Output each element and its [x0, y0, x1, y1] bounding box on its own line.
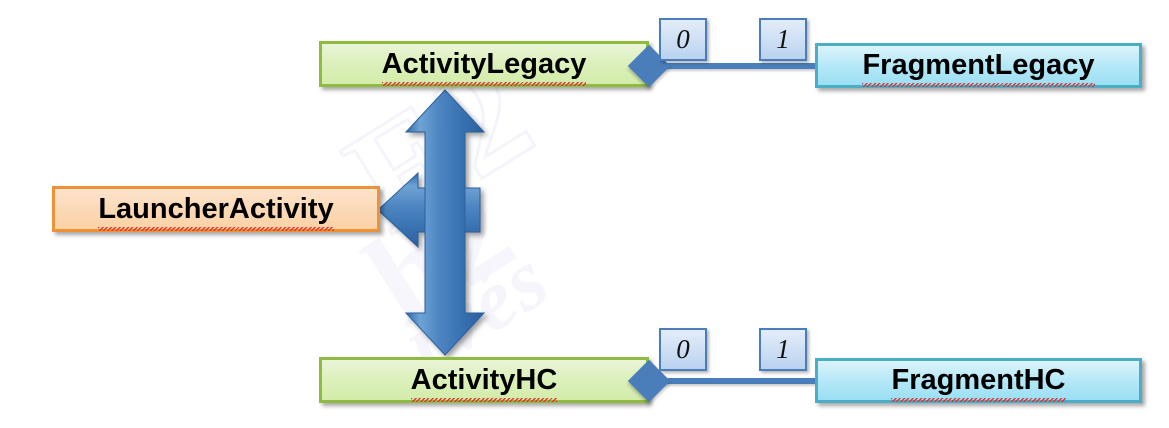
- multiplicity-legacy-target[interactable]: 1: [759, 18, 807, 61]
- class-node-label-launcher-activity: LauncherActivity: [98, 195, 333, 224]
- multiplicity-hc-target[interactable]: 1: [759, 328, 807, 371]
- class-node-label-activity-hc: ActivityHC: [411, 366, 558, 395]
- class-node-fragment-legacy[interactable]: FragmentLegacy: [815, 43, 1142, 88]
- class-node-label-fragment-hc: FragmentHC: [891, 366, 1065, 395]
- class-node-fragment-hc[interactable]: FragmentHC: [815, 358, 1142, 403]
- association-line-hc: [650, 378, 820, 384]
- multiplicity-hc-source[interactable]: 0: [659, 328, 707, 371]
- class-node-label-activity-legacy: ActivityLegacy: [382, 50, 587, 79]
- multiplicity-legacy-source[interactable]: 0: [659, 18, 707, 61]
- class-node-label-fragment-legacy: FragmentLegacy: [862, 51, 1094, 80]
- association-line-legacy: [650, 63, 820, 69]
- three-way-flow-arrow: [370, 85, 520, 360]
- diagram-canvas: E2 h2 rvés: [0, 0, 1169, 428]
- class-node-activity-legacy[interactable]: ActivityLegacy: [319, 41, 649, 87]
- class-node-activity-hc[interactable]: ActivityHC: [319, 357, 649, 403]
- class-node-launcher-activity[interactable]: LauncherActivity: [52, 186, 380, 232]
